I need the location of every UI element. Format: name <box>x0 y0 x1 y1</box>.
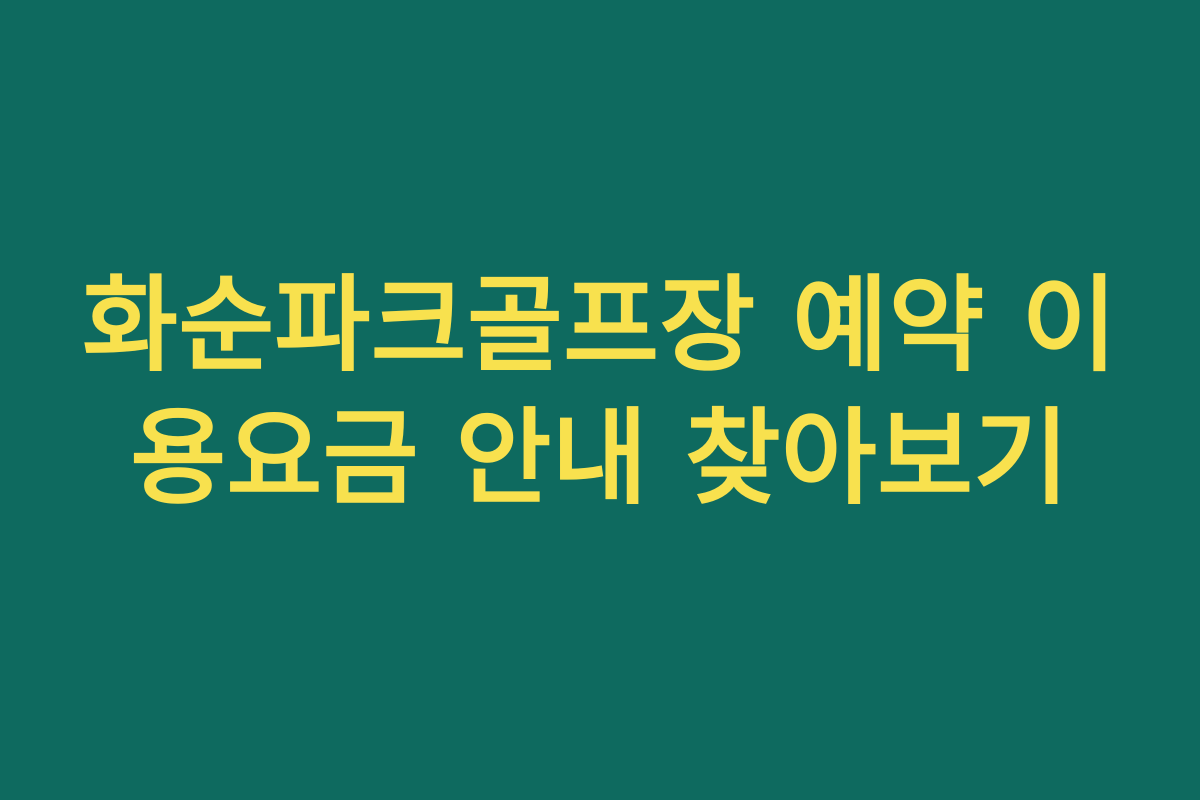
page-title: 화순파크골프장 예약 이 용요금 안내 찾아보기 <box>50 259 1150 525</box>
banner-canvas: 화순파크골프장 예약 이 용요금 안내 찾아보기 <box>0 0 1200 800</box>
headline-line-1: 화순파크골프장 예약 이 <box>50 259 1150 392</box>
headline-line-2: 용요금 안내 찾아보기 <box>50 392 1150 525</box>
